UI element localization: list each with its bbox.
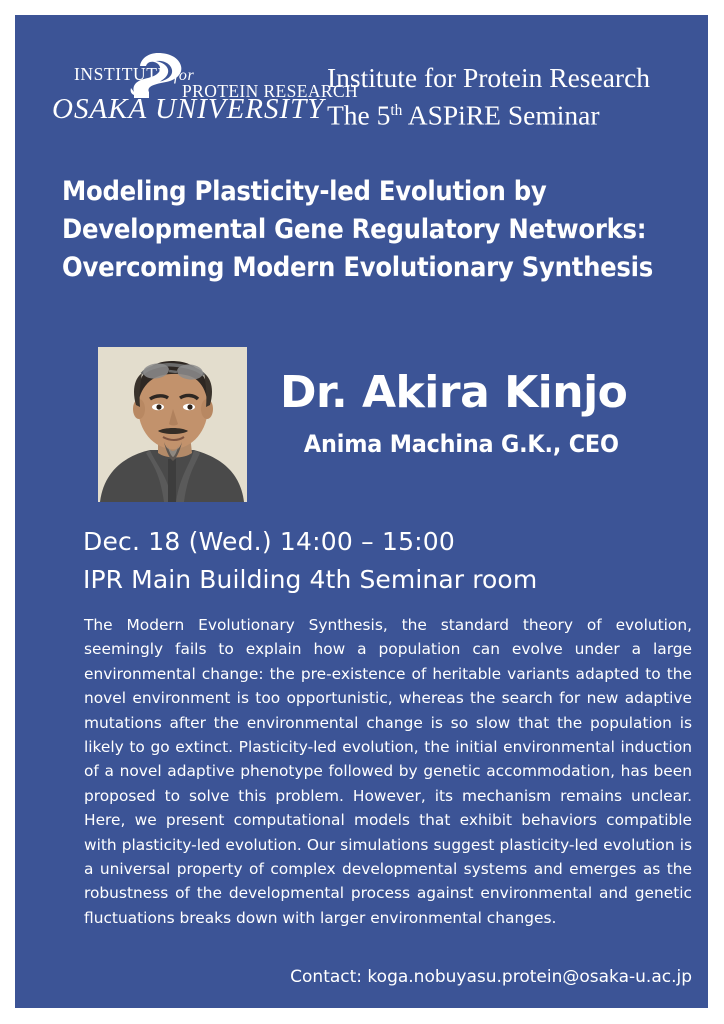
- header-title-line1: Institute for Protein Research: [327, 61, 650, 94]
- seminar-title: Modeling Plasticity-led Evolution by Dev…: [62, 173, 632, 287]
- contact-info: Contact: koga.nobuyasu.protein@osaka-u.a…: [84, 967, 692, 987]
- seminar-poster: INSTITUTE for PROTEIN RESEARCH OSAKA UNI…: [15, 15, 708, 1008]
- logo-osaka-university-text: OSAKA UNIVERSITY: [52, 93, 324, 126]
- ipr-osaka-university-logo: INSTITUTE for PROTEIN RESEARCH OSAKA UNI…: [48, 43, 320, 133]
- header-title-line2: The 5th ASPiRE Seminar: [327, 94, 650, 132]
- speaker-name: Dr. Akira Kinjo: [280, 367, 627, 418]
- seminar-title-line2: Developmental Gene Regulatory Networks:: [62, 211, 632, 249]
- logo-top-line: INSTITUTE for PROTEIN RESEARCH: [48, 60, 320, 92]
- seminar-title-line3: Overcoming Modern Evolutionary Synthesis: [62, 249, 632, 287]
- seminar-title-line1: Modeling Plasticity-led Evolution by: [62, 173, 632, 211]
- speaker-affiliation: Anima Machina G.K., CEO: [280, 430, 643, 458]
- abstract-text: The Modern Evolutionary Synthesis, the s…: [84, 613, 692, 930]
- speaker-photo: [98, 347, 247, 502]
- header-title: Institute for Protein Research The 5th A…: [327, 61, 650, 132]
- event-venue: IPR Main Building 4th Seminar room: [83, 565, 537, 594]
- event-datetime: Dec. 18 (Wed.) 14:00 – 15:00: [83, 527, 455, 556]
- poster-header: INSTITUTE for PROTEIN RESEARCH OSAKA UNI…: [15, 15, 708, 137]
